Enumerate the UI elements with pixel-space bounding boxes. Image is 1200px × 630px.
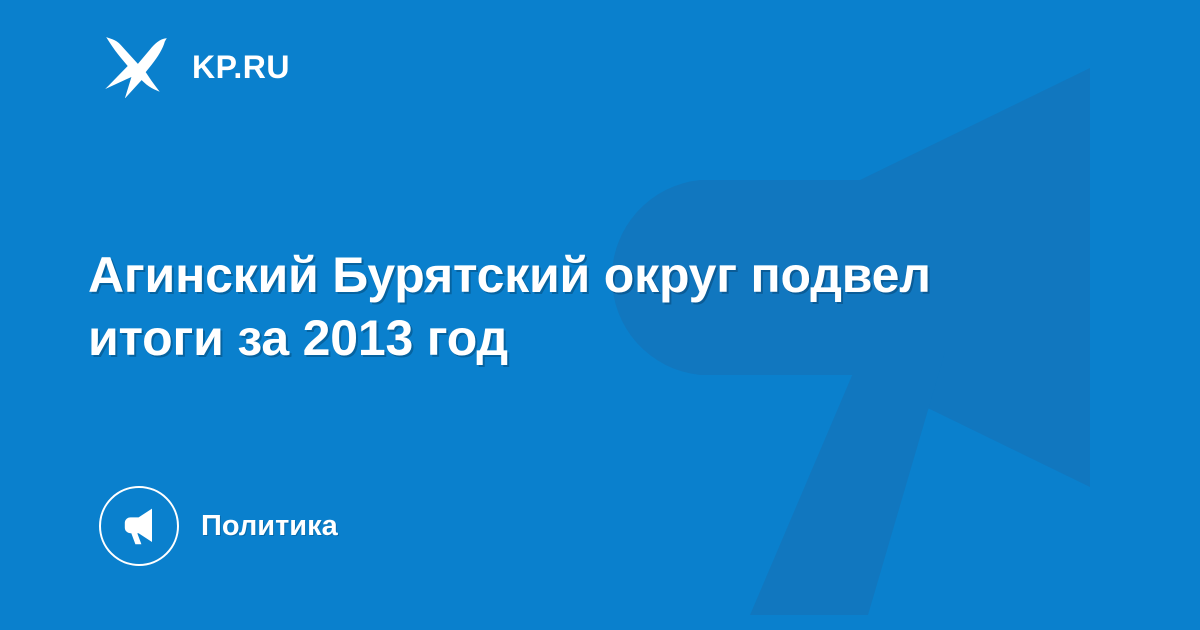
page-title: Агинский Бурятский округ подвел итоги за… xyxy=(88,244,1098,370)
megaphone-icon xyxy=(118,505,160,547)
category-badge-group[interactable]: Политика xyxy=(99,485,338,567)
brand-wordmark: KP.RU xyxy=(192,51,290,83)
category-icon-circle xyxy=(99,486,179,566)
page-title-line-1: Агинский Бурятский округ подвел xyxy=(88,244,1098,307)
share-card: KP.RU Агинский Бурятский округ подвел ит… xyxy=(0,0,1200,630)
swallow-bird-logo xyxy=(100,36,174,98)
category-label: Политика xyxy=(201,512,338,541)
brand-header: KP.RU xyxy=(100,36,290,98)
page-title-line-2: итоги за 2013 год xyxy=(88,307,1098,370)
